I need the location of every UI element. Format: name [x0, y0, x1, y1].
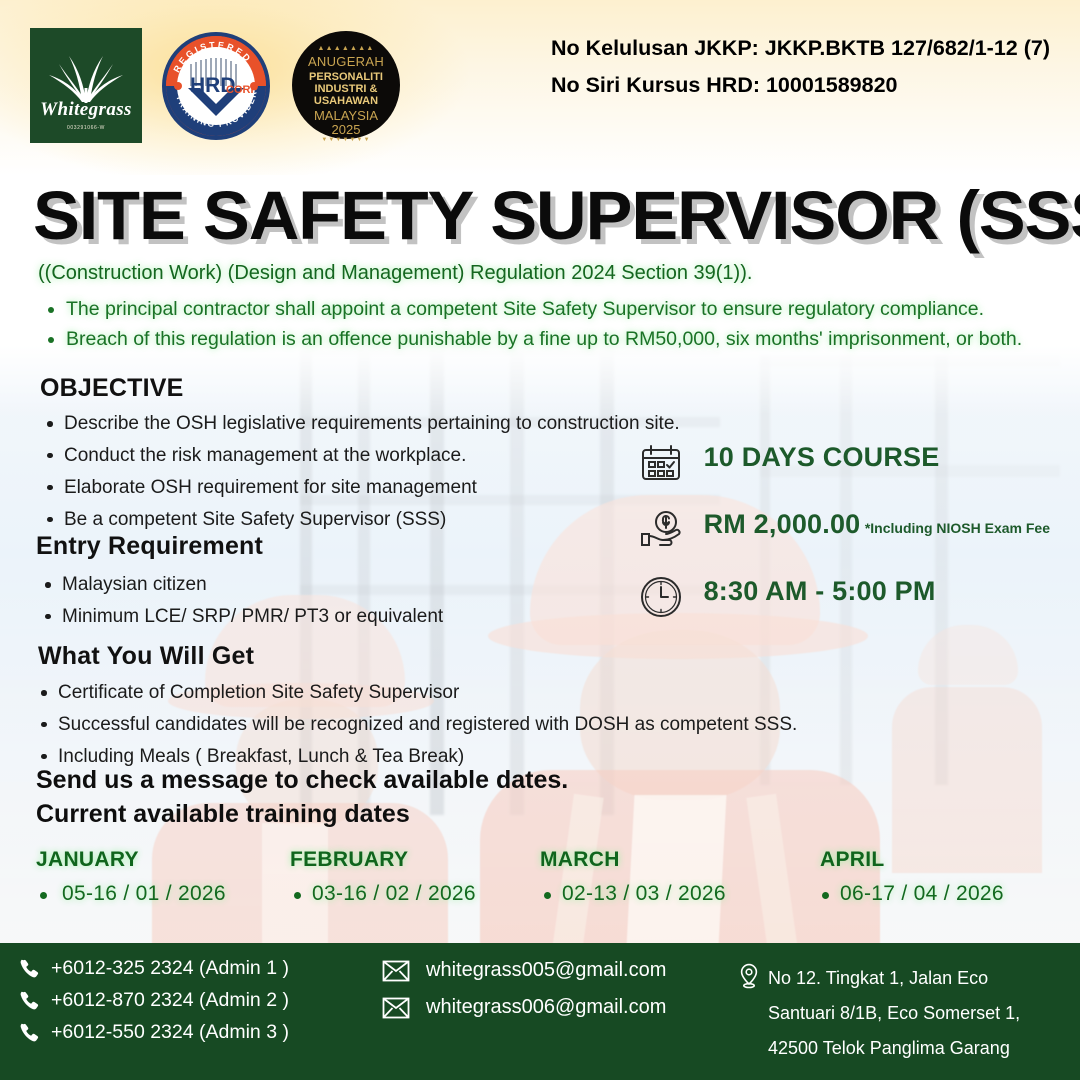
hrd-corp-logo: REGISTERED TRAINING PROVIDER HRD CORP: [160, 30, 272, 142]
address-line: Santuari 8/1B, Eco Somerset 1,: [768, 996, 1020, 1031]
badge-duration: 10 DAYS COURSE: [638, 440, 1050, 486]
certification-numbers: No Kelulusan JKKP: JKKP.BKTB 127/682/1-1…: [551, 30, 1050, 104]
email-address: whitegrass006@gmail.com: [426, 996, 666, 1019]
anugerah-line-2: PERSONALITI: [309, 71, 383, 83]
what-you-will-get-heading: What You Will Get: [38, 642, 254, 671]
what-you-will-get-list: Certificate of Completion Site Safety Su…: [34, 680, 797, 776]
month-label: MARCH: [540, 848, 726, 872]
hrd-corp-text: CORP: [226, 84, 258, 96]
training-dates-row: JANUARY 05-16 / 01 / 2026 FEBRUARY 03-16…: [0, 848, 1080, 918]
phone-icon: [18, 990, 40, 1012]
address-block: No 12. Tingkat 1, Jalan Eco Santuari 8/1…: [738, 961, 1020, 1066]
month-label: FEBRUARY: [290, 848, 476, 872]
regulation-points-list: The principal contractor shall appoint a…: [44, 298, 1022, 358]
badge-price-text: RM 2,000.00: [704, 509, 861, 539]
regulation-point: The principal contractor shall appoint a…: [44, 298, 1022, 321]
month-label: APRIL: [820, 848, 1004, 872]
phone-number: +6012-325 2324 (Admin 1 ): [51, 957, 289, 980]
phone-list: +6012-325 2324 (Admin 1 ) +6012-870 2324…: [18, 957, 289, 1053]
list-item: Conduct the risk management at the workp…: [40, 443, 680, 470]
date-column-march: MARCH 02-13 / 03 / 2026: [540, 848, 726, 906]
svg-text:▼▼▼▼▼▼▼: ▼▼▼▼▼▼▼: [321, 137, 370, 143]
objective-heading: OBJECTIVE: [40, 374, 184, 403]
list-item: Certificate of Completion Site Safety Su…: [34, 680, 797, 707]
envelope-icon: [382, 960, 410, 982]
badge-price-note: *Including NIOSH Exam Fee: [865, 520, 1050, 536]
date-column-january: JANUARY 05-16 / 01 / 2026: [36, 848, 226, 906]
whitegrass-wordmark: Whitegrass: [30, 99, 142, 121]
poster-root: Whitegrass 003291066-W: [0, 0, 1080, 1080]
list-item: Describe the OSH legislative requirement…: [40, 411, 680, 438]
anugerah-line-3: INDUSTRI &: [315, 83, 378, 95]
clock-icon: [638, 574, 684, 620]
grass-icon: [43, 42, 129, 104]
hrd-course-number: No Siri Kursus HRD: 10001589820: [551, 67, 1050, 104]
phone-row[interactable]: +6012-870 2324 (Admin 2 ): [18, 989, 289, 1012]
list-item: Elaborate OSH requirement for site manag…: [40, 475, 680, 502]
date-column-february: FEBRUARY 03-16 / 02 / 2026: [290, 848, 476, 906]
whitegrass-registration-number: 003291066-W: [30, 125, 142, 131]
anugerah-award-logo: ▲▲▲▲▲▲▲ ANUGERAH PERSONALITI INDUSTRI & …: [290, 28, 402, 143]
cta-dates-line: Current available training dates: [36, 800, 410, 829]
anugerah-line-5: MALAYSIA: [314, 108, 378, 123]
address-line: 42500 Telok Panglima Garang: [768, 1031, 1020, 1066]
list-item: Be a competent Site Safety Supervisor (S…: [40, 507, 680, 534]
anugerah-line-6: 2025: [332, 122, 361, 137]
email-row[interactable]: whitegrass006@gmail.com: [382, 996, 666, 1019]
list-item: Malaysian citizen: [38, 572, 443, 599]
phone-number: +6012-550 2324 (Admin 3 ): [51, 1021, 289, 1044]
phone-icon: [18, 1022, 40, 1044]
phone-row[interactable]: +6012-325 2324 (Admin 1 ): [18, 957, 289, 980]
list-item: Minimum LCE/ SRP/ PMR/ PT3 or equivalent: [38, 604, 443, 631]
envelope-icon: [382, 997, 410, 1019]
email-list: whitegrass005@gmail.com whitegrass006@gm…: [382, 959, 666, 1033]
money-hand-icon: [638, 507, 684, 553]
address-line: No 12. Tingkat 1, Jalan Eco: [768, 961, 1020, 996]
date-column-april: APRIL 06-17 / 04 / 2026: [818, 848, 1004, 906]
badge-duration-text: 10 DAYS COURSE: [704, 442, 940, 472]
month-label: JANUARY: [36, 848, 226, 872]
objective-list: Describe the OSH legislative requirement…: [40, 411, 680, 539]
course-info-badges: 10 DAYS COURSE RM 2,000.00 *Including NI…: [638, 440, 1050, 641]
email-address: whitegrass005@gmail.com: [426, 959, 666, 982]
date-value: 03-16 / 02 / 2026: [290, 882, 476, 906]
badge-price: RM 2,000.00 *Including NIOSH Exam Fee: [638, 507, 1050, 553]
whitegrass-logo: Whitegrass 003291066-W: [30, 28, 142, 143]
page-title: SITE SAFETY SUPERVISOR (SSS): [33, 176, 1080, 255]
svg-text:▲▲▲▲▲▲▲: ▲▲▲▲▲▲▲: [318, 45, 375, 52]
entry-requirement-list: Malaysian citizen Minimum LCE/ SRP/ PMR/…: [38, 572, 443, 636]
badge-time: 8:30 AM - 5:00 PM: [638, 574, 1050, 620]
email-row[interactable]: whitegrass005@gmail.com: [382, 959, 666, 982]
anugerah-line-4: USAHAWAN: [314, 95, 378, 107]
jkkp-approval-number: No Kelulusan JKKP: JKKP.BKTB 127/682/1-1…: [551, 30, 1050, 67]
phone-row[interactable]: +6012-550 2324 (Admin 3 ): [18, 1021, 289, 1044]
date-value: 05-16 / 01 / 2026: [36, 882, 226, 906]
date-value: 02-13 / 03 / 2026: [540, 882, 726, 906]
anugerah-line-1: ANUGERAH: [308, 54, 384, 69]
cta-message-line: Send us a message to check available dat…: [36, 766, 568, 795]
phone-icon: [18, 958, 40, 980]
date-value: 06-17 / 04 / 2026: [818, 882, 1004, 906]
badge-time-text: 8:30 AM - 5:00 PM: [704, 576, 936, 606]
calendar-icon: [638, 440, 684, 486]
phone-number: +6012-870 2324 (Admin 2 ): [51, 989, 289, 1012]
list-item: Successful candidates will be recognized…: [34, 712, 797, 739]
entry-requirement-heading: Entry Requirement: [36, 532, 263, 561]
regulation-subtitle: ((Construction Work) (Design and Managem…: [38, 262, 752, 285]
regulation-point: Breach of this regulation is an offence …: [44, 328, 1022, 351]
contact-footer: +6012-325 2324 (Admin 1 ) +6012-870 2324…: [0, 943, 1080, 1080]
location-pin-icon: [738, 963, 760, 989]
logo-group: Whitegrass 003291066-W: [30, 28, 402, 143]
